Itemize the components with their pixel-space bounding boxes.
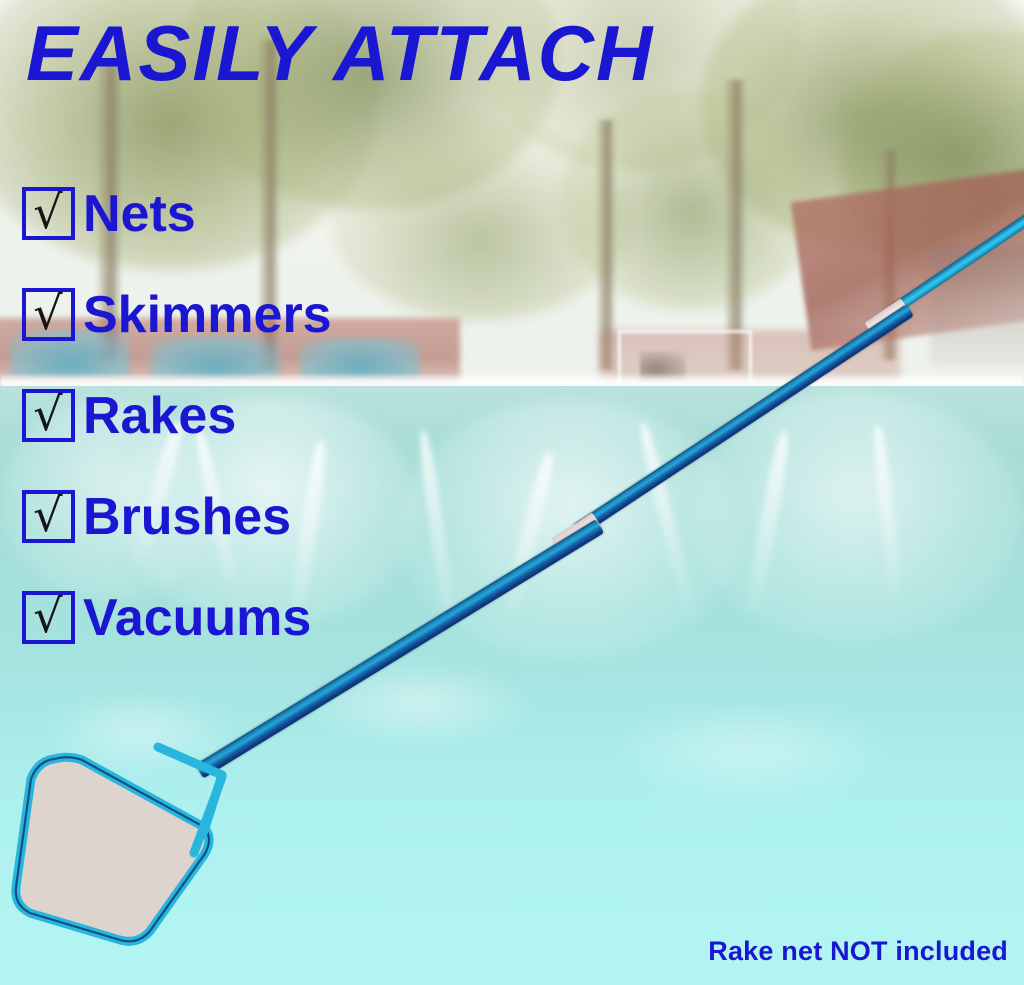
checkbox-vacuums[interactable]: √ — [22, 591, 75, 644]
checkbox-brushes[interactable]: √ — [22, 490, 75, 543]
checkbox-nets[interactable]: √ — [22, 187, 75, 240]
pool-skimmer-net — [8, 735, 238, 950]
check-icon: √ — [33, 189, 62, 235]
checklist-label: Brushes — [83, 491, 291, 543]
feature-checklist: √ Nets √ Skimmers √ Rakes √ Brushes √ — [22, 163, 442, 668]
list-item[interactable]: √ Brushes — [22, 466, 442, 567]
checklist-label: Nets — [83, 188, 196, 240]
check-icon: √ — [33, 290, 62, 336]
check-icon: √ — [33, 593, 62, 639]
list-item[interactable]: √ Skimmers — [22, 264, 442, 365]
checklist-label: Rakes — [83, 390, 236, 442]
checkbox-rakes[interactable]: √ — [22, 389, 75, 442]
pole-upper-section — [890, 213, 1024, 314]
disclaimer-text: Rake net NOT included — [708, 936, 1008, 967]
check-icon: √ — [33, 391, 62, 437]
page-title: EASILY ATTACH — [26, 14, 654, 92]
checkbox-skimmers[interactable]: √ — [22, 288, 75, 341]
list-item[interactable]: √ Nets — [22, 163, 442, 264]
check-icon: √ — [33, 492, 62, 538]
pole-mid-section — [573, 304, 914, 536]
checklist-label: Skimmers — [83, 289, 332, 341]
product-image-canvas: EASILY ATTACH √ Nets √ Skimmers √ Rakes … — [0, 0, 1024, 985]
list-item[interactable]: √ Vacuums — [22, 567, 442, 668]
list-item[interactable]: √ Rakes — [22, 365, 442, 466]
net-mesh — [16, 757, 209, 941]
skimmer-net-svg — [8, 735, 238, 950]
checklist-label: Vacuums — [83, 592, 311, 644]
